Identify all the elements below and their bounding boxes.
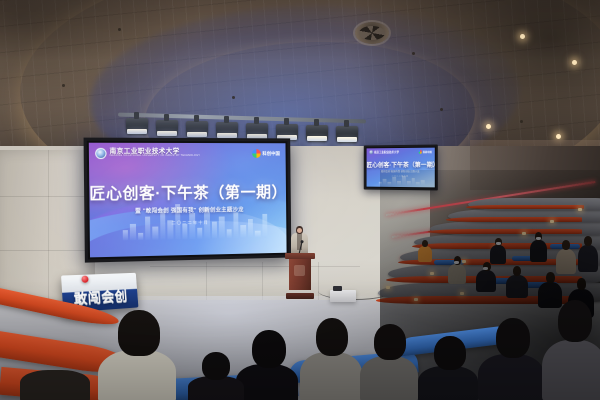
audience-body: [506, 275, 528, 298]
partner-label: 科创中国: [262, 151, 280, 157]
audience-head: [374, 324, 406, 360]
ceiling-downlight: [486, 124, 491, 129]
audience-head: [118, 310, 160, 356]
partner-logo: 科创中国: [252, 149, 280, 158]
audience-head: [434, 336, 466, 370]
projection-screen-surface: 南京工业职业技术大学 NANJING VOCATIONAL UNIVERSITY…: [89, 143, 287, 258]
seating-step-accent: [446, 217, 582, 222]
tv-university-logo: 南京工业职业技术大学: [369, 150, 399, 154]
audience-body: [448, 264, 466, 284]
audience-head: [496, 318, 530, 358]
audience-head: [546, 272, 555, 283]
tv-partner-mark-icon: [418, 150, 421, 154]
audience-member-foreground: [418, 336, 478, 400]
wall-seam: [318, 262, 319, 300]
tv-slide-subtitle: 敢闯会创 强国有我 创新创业主题沙龙: [367, 169, 435, 173]
audience-member-foreground: [478, 318, 544, 400]
projection-screen-frame: 南京工业职业技术大学 NANJING VOCATIONAL UNIVERSITY…: [84, 138, 292, 263]
step-light: [430, 272, 434, 275]
audience-member-foreground: [236, 330, 298, 400]
ceiling-downlight: [572, 60, 577, 65]
step-light: [522, 232, 526, 235]
audience-member: [418, 240, 432, 262]
tv-partner-logo: 科创中国: [418, 150, 431, 154]
podium-base: [286, 293, 314, 299]
audience-member-foreground: [188, 352, 244, 400]
audience-member: [578, 236, 598, 272]
audience-body: [418, 246, 432, 262]
tv-partner-label: 科创中国: [423, 150, 432, 154]
audience-head: [202, 352, 230, 380]
ceiling-sprinkler-icon: [520, 120, 523, 123]
tv-slide-header: 南京工业职业技术大学 科创中国: [369, 150, 431, 155]
equipment-table: [330, 290, 356, 302]
audience-member: [448, 256, 466, 284]
audience-body: [578, 245, 598, 272]
audience-body: [530, 240, 547, 262]
podium: [287, 253, 313, 299]
ceiling-shadow-left: [0, 0, 200, 130]
audience-member: [490, 238, 506, 264]
tv-skyline-graphic: [378, 174, 424, 184]
face-mask: [496, 242, 501, 245]
audience-body: [478, 354, 544, 400]
audience-body: [542, 340, 600, 400]
ceiling-downlight: [520, 34, 525, 39]
university-name-en: NANJING VOCATIONAL UNIVERSITY OF INDUSTR…: [110, 155, 200, 158]
tv-university-name: 南京工业职业技术大学: [374, 150, 399, 154]
lecture-hall-photo: 南京工业职业技术大学 NANJING VOCATIONAL UNIVERSITY…: [0, 0, 600, 400]
audience-body: [98, 350, 176, 400]
wall-seam: [48, 150, 49, 310]
stage-spotlight-icon: [336, 126, 358, 143]
presenter-face: [297, 228, 302, 233]
audience-member: [556, 240, 576, 274]
ceiling-sprinkler-icon: [118, 28, 121, 31]
podium-emblem: [294, 265, 305, 276]
step-light: [414, 298, 418, 301]
stage-spotlight-icon: [186, 121, 208, 138]
audience-member: [506, 266, 528, 298]
tv-university-seal-icon: [369, 150, 373, 154]
slide-title: 匠心创客·下午茶（第一期）: [89, 180, 286, 204]
audience-member-foreground: [98, 310, 176, 400]
audience-head: [577, 278, 586, 290]
audience-head: [316, 318, 348, 356]
university-logo: 南京工业职业技术大学 NANJING VOCATIONAL UNIVERSITY…: [95, 148, 200, 159]
step-light: [550, 220, 554, 223]
stage-spotlight-icon: [156, 120, 178, 137]
audience-member: [530, 232, 547, 262]
face-mask: [483, 267, 488, 270]
ceiling-sprinkler-icon: [232, 96, 235, 99]
wall-tv-surface: 南京工业职业技术大学 科创中国 匠心创客·下午茶（第一期） 敢闯会创 强国有我 …: [367, 148, 435, 188]
seating-step-accent: [466, 205, 584, 209]
stage-spotlight-icon: [306, 125, 328, 142]
audience-body: [418, 366, 478, 400]
wall-seam: [150, 266, 360, 267]
face-mask: [536, 237, 541, 240]
step-light: [386, 286, 390, 289]
step-light: [578, 208, 582, 211]
equipment-case: [333, 286, 342, 291]
audience-head: [513, 266, 521, 276]
audience-head: [252, 330, 286, 368]
podium-top: [285, 253, 315, 259]
face-mask: [454, 261, 459, 264]
audience-member-foreground: [20, 352, 90, 400]
step-light: [460, 292, 464, 295]
audience-body: [476, 270, 496, 292]
slide-header: 南京工业职业技术大学 NANJING VOCATIONAL UNIVERSITY…: [95, 148, 280, 159]
ceiling-sprinkler-icon: [412, 52, 415, 55]
partner-mark-icon: [252, 149, 261, 158]
audience-body: [360, 356, 418, 400]
audience-head: [558, 300, 592, 342]
wall-tv-frame: 南京工业职业技术大学 科创中国 匠心创客·下午茶（第一期） 敢闯会创 强国有我 …: [364, 145, 438, 191]
audience-head: [584, 236, 592, 246]
stage-spotlight-icon: [216, 122, 238, 139]
audience-member-foreground: [360, 324, 418, 400]
audience-member-foreground: [542, 300, 600, 400]
university-seal-icon: [95, 148, 107, 159]
audience-body: [236, 364, 298, 400]
audience-member: [476, 262, 496, 292]
stage-spotlight-icon: [126, 118, 148, 135]
audience-head: [562, 240, 570, 250]
audience-body: [300, 352, 362, 400]
audience-member-foreground: [300, 318, 362, 400]
audience-body: [20, 370, 90, 400]
audience-head: [422, 240, 428, 247]
audience-body: [556, 249, 576, 274]
ceiling-shadow-right: [340, 0, 600, 152]
ceiling-sprinkler-icon: [62, 84, 65, 87]
ceiling: [0, 0, 600, 152]
seating-step-accent: [428, 229, 582, 234]
ceiling-sprinkler-icon: [440, 108, 443, 111]
ceiling-downlight: [556, 134, 561, 139]
